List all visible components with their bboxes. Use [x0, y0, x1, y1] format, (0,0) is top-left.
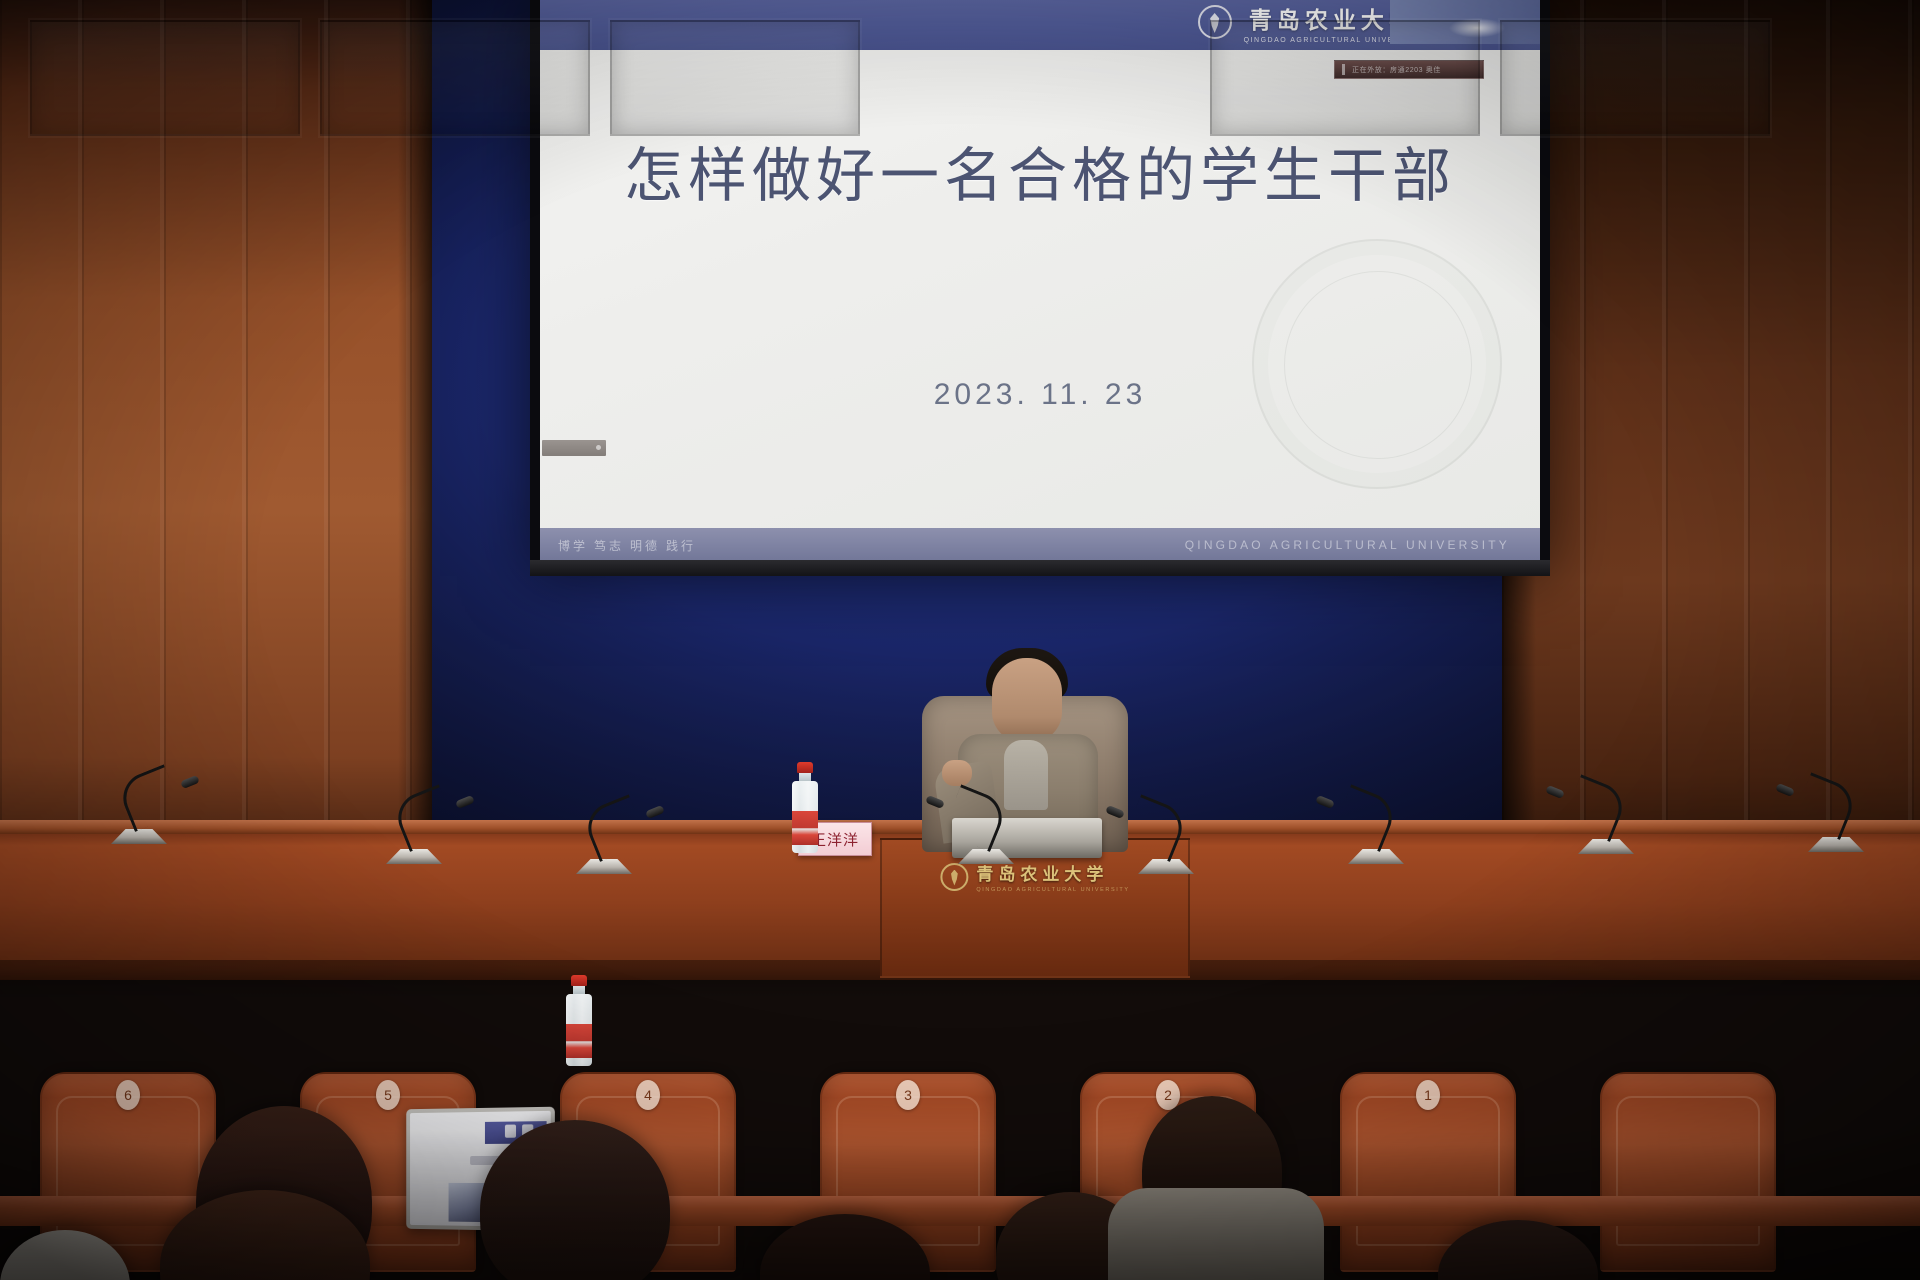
slide-date: 2023. 11. 23 — [540, 378, 1540, 412]
slide-title: 怎样做好一名合格的学生干部 — [540, 128, 1540, 213]
seal-watermark-icon — [1252, 239, 1502, 489]
slide-footer-bar: 博学 笃志 明德 践行 QINGDAO AGRICULTURAL UNIVERS… — [540, 528, 1540, 562]
seat-number: 3 — [896, 1080, 920, 1110]
desk-panel — [1210, 20, 1480, 136]
microphone — [370, 790, 460, 864]
slide-footer-en: QINGDAO AGRICULTURAL UNIVERSITY — [1185, 538, 1510, 552]
seat-number: 4 — [636, 1080, 660, 1110]
microphone — [1560, 780, 1650, 854]
screen-bezel — [530, 560, 1550, 576]
microphone — [560, 800, 650, 874]
desk-panel — [1500, 20, 1770, 136]
water-bottle — [566, 975, 592, 1066]
microphone — [1790, 778, 1880, 852]
seat-number: 1 — [1416, 1080, 1440, 1110]
desk-panel — [320, 20, 590, 136]
auditorium-photo: 青岛农业大学 QINGDAO AGRICULTURAL UNIVERSITY 正… — [0, 0, 1920, 1280]
auditorium-seat[interactable] — [1600, 1072, 1776, 1272]
podium-university-name-en: QINGDAO AGRICULTURAL UNIVERSITY — [976, 887, 1129, 893]
water-bottle — [792, 762, 818, 853]
speaker-nameplate-text: 王洋洋 — [811, 829, 859, 850]
slide-motto-cn: 博学 笃志 明德 践行 — [558, 537, 696, 554]
desk-panel — [610, 20, 860, 136]
microphone — [1330, 790, 1420, 864]
desk-panel — [30, 20, 300, 136]
podium-emblem: 青岛农业大学 QINGDAO AGRICULTURAL UNIVERSITY — [940, 860, 1129, 893]
seat-number: 5 — [376, 1080, 400, 1110]
speaker-hand — [942, 760, 972, 786]
microphone — [1120, 800, 1210, 874]
university-seal-icon — [940, 863, 968, 891]
speaker-head — [992, 658, 1062, 742]
microphone — [940, 790, 1030, 864]
audience-scarf — [1108, 1188, 1324, 1280]
projector-toolbar-nub[interactable] — [542, 440, 606, 456]
seat-number: 6 — [116, 1080, 140, 1110]
microphone — [95, 770, 185, 844]
